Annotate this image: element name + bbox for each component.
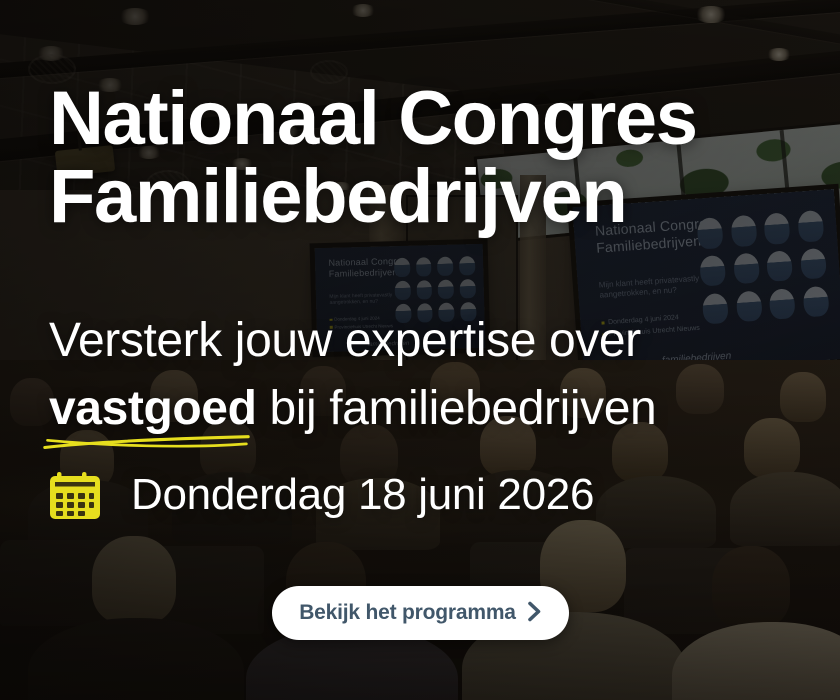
headline-line-1: Nationaal Congres xyxy=(49,76,697,161)
hero-content: Nationaal Congres Familiebedrijven Verst… xyxy=(0,0,840,700)
highlighted-word: vastgoed xyxy=(49,375,257,443)
subtitle-line-1: Versterk jouw expertise over xyxy=(49,314,641,367)
calendar-icon xyxy=(49,470,101,520)
event-date-row: Donderdag 18 juni 2026 xyxy=(49,470,594,520)
subtitle-line-2: vastgoed bij familiebedrijven xyxy=(49,375,789,443)
highlight-text: vastgoed xyxy=(49,382,257,435)
hero-banner: Nationaal Congres Familiebedrijven Mijn … xyxy=(0,0,840,700)
page-title: Nationaal Congres Familiebedrijven xyxy=(49,80,809,235)
chevron-right-icon xyxy=(527,601,542,625)
subtitle-line-2-rest: bij familiebedrijven xyxy=(257,382,657,435)
hero-subtitle: Versterk jouw expertise over vastgoed bi… xyxy=(49,307,789,443)
headline-line-2: Familiebedrijven xyxy=(49,158,809,236)
view-programme-button[interactable]: Bekijk het programma xyxy=(272,586,569,640)
yellow-underline-stroke xyxy=(43,434,250,452)
event-date: Donderdag 18 juni 2026 xyxy=(131,470,594,520)
view-programme-label: Bekijk het programma xyxy=(299,601,516,625)
